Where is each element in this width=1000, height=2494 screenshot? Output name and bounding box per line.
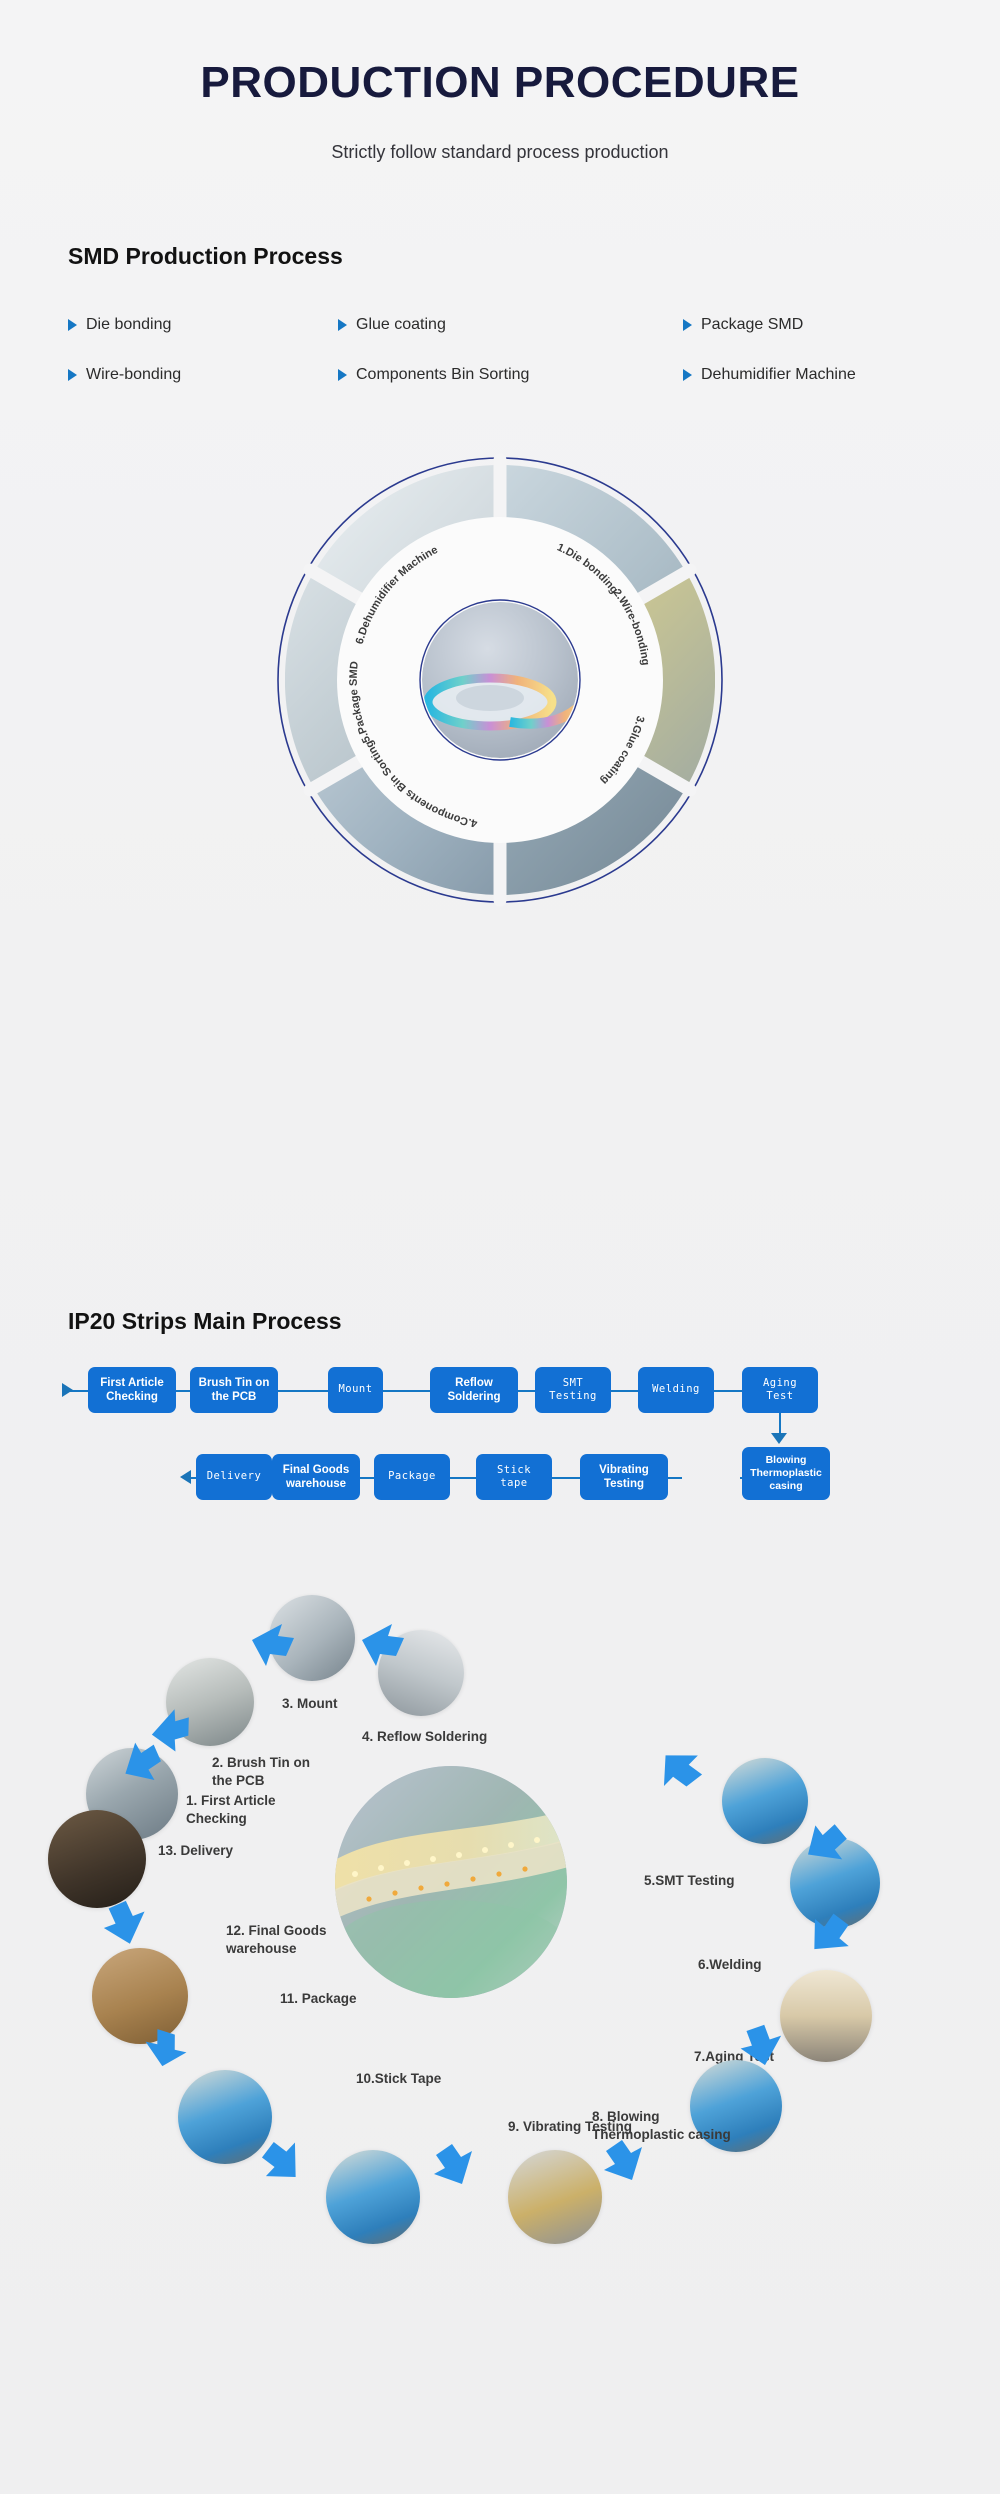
bullet-item: Die bonding: [68, 316, 338, 334]
bullet-label: Die bonding: [86, 316, 171, 334]
wheel-svg: 1.Die bonding 2.Wire-bonding 3.Glue coat…: [190, 430, 810, 930]
smd-section-heading: SMD Production Process: [68, 243, 343, 270]
flow-box-reflow-soldering[interactable]: Reflow Soldering: [430, 1367, 518, 1413]
flow-box-welding[interactable]: Welding: [638, 1367, 714, 1413]
flow-connector: [278, 1390, 328, 1392]
bullet-item: Wire-bonding: [68, 366, 338, 384]
flow-box-stick-tape[interactable]: Stick tape: [476, 1454, 552, 1500]
triangle-bullet-icon: [68, 369, 77, 381]
flow-box-smt-testing[interactable]: SMT Testing: [535, 1367, 611, 1413]
triangle-bullet-icon: [683, 369, 692, 381]
bullet-item: Dehumidifier Machine: [683, 366, 948, 384]
flow-box-delivery[interactable]: Delivery: [196, 1454, 272, 1500]
triangle-bullet-icon: [338, 319, 347, 331]
bullet-label: Glue coating: [356, 316, 446, 334]
bullet-label: Wire-bonding: [86, 366, 181, 384]
triangle-bullet-icon: [683, 319, 692, 331]
flow-connector: [382, 1390, 430, 1392]
flow-box-final-goods-warehouse[interactable]: Final Goods warehouse: [272, 1454, 360, 1500]
flow-box-first-article-checking[interactable]: First Article Checking: [88, 1367, 176, 1413]
flow-box-aging-test[interactable]: Aging Test: [742, 1367, 818, 1413]
flow-arrow-right-icon: [62, 1383, 73, 1397]
bullet-label: Components Bin Sorting: [356, 366, 529, 384]
ip20-section-heading: IP20 Strips Main Process: [68, 1308, 342, 1335]
page-subtitle: Strictly follow standard process product…: [0, 142, 1000, 163]
flow-box-package[interactable]: Package: [374, 1454, 450, 1500]
production-procedure-page: PRODUCTION PROCEDURE Strictly follow sta…: [0, 0, 1000, 2494]
ip20-flowchart: First Article Checking Brush Tin on the …: [0, 1355, 1000, 1535]
flow-box-vibrating-testing[interactable]: Vibrating Testing: [580, 1454, 668, 1500]
ip20-photo-process-diagram: 1. First Article Checking 2. Brush Tin o…: [0, 1570, 1000, 2494]
flow-arrow-down-icon: [771, 1433, 787, 1444]
smd-bullet-list: Die bonding Glue coating Package SMD Wir…: [68, 300, 948, 400]
bullet-label: Package SMD: [701, 316, 803, 334]
bullet-label: Dehumidifier Machine: [701, 366, 856, 384]
flow-box-mount[interactable]: Mount: [328, 1367, 383, 1413]
bullet-item: Components Bin Sorting: [338, 366, 683, 384]
bullet-row: Wire-bonding Components Bin Sorting Dehu…: [68, 350, 948, 400]
flow-arrows-svg: [0, 1570, 1000, 2494]
flow-box-brush-tin[interactable]: Brush Tin on the PCB: [190, 1367, 278, 1413]
bullet-item: Glue coating: [338, 316, 683, 334]
flow-box-blowing-thermoplastic-casing[interactable]: Blowing Thermoplastic casing: [742, 1447, 830, 1500]
triangle-bullet-icon: [338, 369, 347, 381]
flow-arrow-left-icon: [180, 1470, 191, 1484]
bullet-item: Package SMD: [683, 316, 948, 334]
triangle-bullet-icon: [68, 319, 77, 331]
flow-connector-vertical: [779, 1413, 781, 1435]
bullet-row: Die bonding Glue coating Package SMD: [68, 300, 948, 350]
page-title: PRODUCTION PROCEDURE: [0, 58, 1000, 108]
smd-wheel-diagram: 1.Die bonding 2.Wire-bonding 3.Glue coat…: [0, 430, 1000, 930]
